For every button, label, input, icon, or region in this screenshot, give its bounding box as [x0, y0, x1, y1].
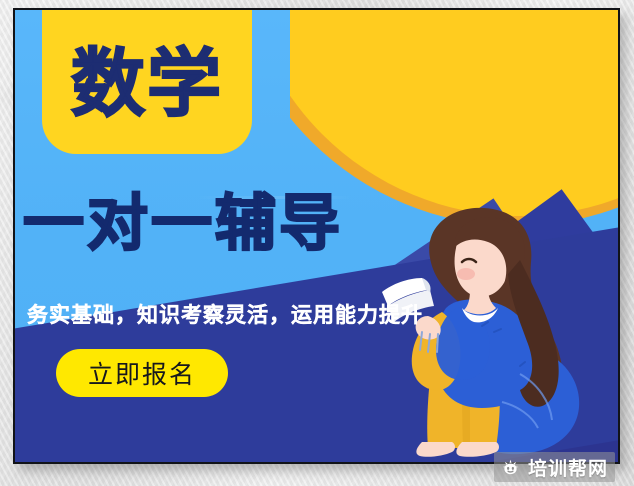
cheek-blush — [457, 268, 475, 280]
subject-badge: 数学 — [42, 8, 252, 154]
enroll-now-button-label: 立即报名 — [88, 355, 196, 391]
enroll-now-button[interactable]: 立即报名 — [56, 349, 228, 397]
screenshot-canvas: 数学 — [0, 0, 634, 486]
watermark-label: 培训帮网 — [528, 454, 608, 481]
sun-face-icon — [500, 457, 521, 478]
watermark: 培训帮网 — [494, 452, 615, 482]
page-title: 一对一辅导 — [23, 192, 503, 256]
foot-right-shape — [456, 442, 499, 457]
poster-subtitle: 务实基础，知识考察灵活，运用能力提升 — [27, 299, 497, 329]
foot-left-shape — [416, 442, 455, 457]
course-poster: 数学 — [13, 8, 620, 464]
subject-badge-label: 数学 — [71, 39, 223, 121]
